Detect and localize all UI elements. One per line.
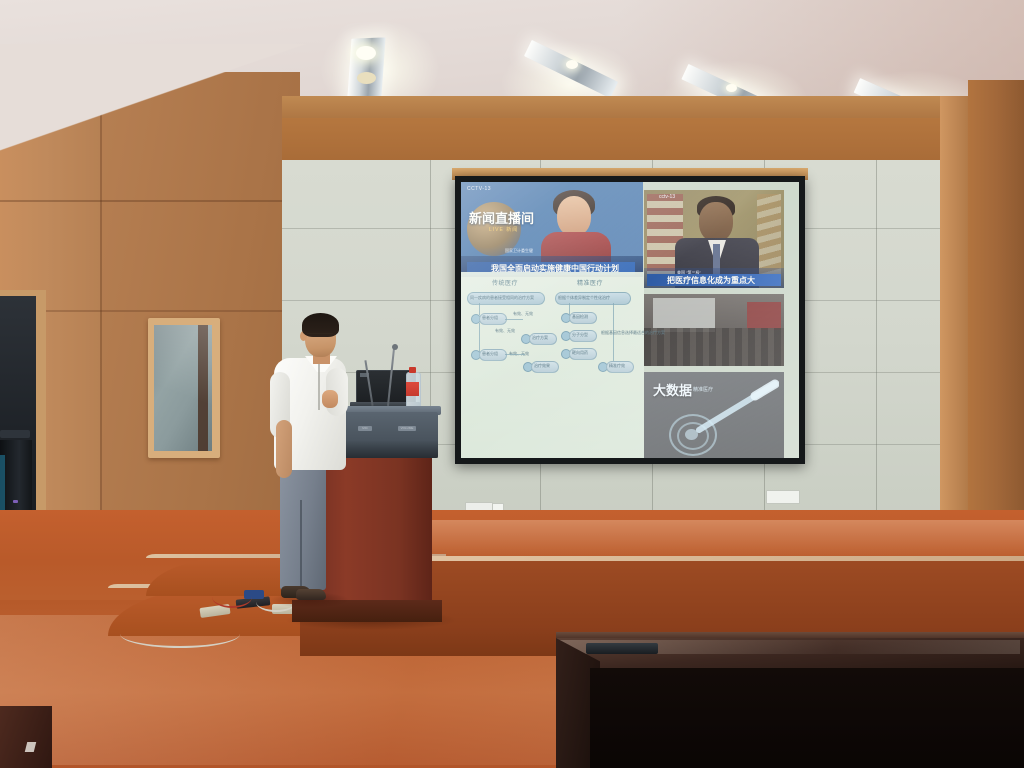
diagram-connector <box>505 354 525 355</box>
news-channel-logo: CCTV-13 <box>467 186 491 192</box>
cable-red <box>212 586 252 608</box>
conference-banner <box>747 302 781 330</box>
bigdata-title: 大数据 <box>653 380 692 399</box>
clip-ticker-text: 把医疗信息化成为重点大 <box>667 275 755 286</box>
presenter-hand-right <box>322 390 338 408</box>
diagram-connector <box>479 303 480 315</box>
desk-microphone-unit[interactable] <box>586 643 658 654</box>
diagram-left-top-node-label: 同一疾病的患者接受相同的治疗方案 <box>470 296 534 300</box>
news-anchor-head <box>557 196 591 236</box>
presenter-trousers <box>280 462 326 590</box>
ceiling-light-3-lamp <box>726 84 737 92</box>
conference-projector-screen <box>653 298 715 332</box>
back-wall-upper-wood-band <box>282 118 970 160</box>
wall-outlet-right[interactable] <box>766 490 800 504</box>
ceiling-light-2-lamp <box>566 60 578 69</box>
diagram-right-heading: 精准医疗 <box>577 278 603 287</box>
ceiling-light-1-lamp <box>356 46 376 60</box>
diagram-connector <box>479 323 480 353</box>
diagram-left-heading: 传统医疗 <box>492 278 518 287</box>
news-program-title: 新闻直播间 <box>469 208 534 227</box>
diagram-left-node-2-label: 治疗方案 <box>532 336 548 340</box>
bigdata-subtitle: 精准医疗 <box>693 386 713 393</box>
presenter-glasses-icon <box>307 333 333 339</box>
presenter-leg-seam <box>300 500 302 592</box>
chair-corner[interactable] <box>0 706 52 768</box>
projection-screen[interactable]: CCTV-13 新闻直播间 LIVE 新闻 国家卫计委生健 我国全面启动实施健康… <box>461 182 799 458</box>
wall-window-reflection <box>154 325 212 451</box>
diagram-left-node-4-label: 治疗效果 <box>534 364 550 368</box>
diagram-right-top-node-label: 根据个体差异制定个性化治疗 <box>558 296 610 300</box>
diagram-right-node-2-label: 分子分型 <box>572 333 588 337</box>
ceiling-light-1-lamp2 <box>357 72 376 84</box>
diagram-right-node-3-label: 靶向用药 <box>572 351 588 355</box>
lectern-control-center[interactable]: MIC <box>358 426 372 431</box>
av-rack-top <box>0 430 30 438</box>
slide-news-broadcast: CCTV-13 新闻直播间 LIVE 新闻 国家卫计委生健 我国全面启动实施健康… <box>461 182 643 277</box>
presenter-shirt-placket <box>318 364 320 410</box>
diagram-connector <box>505 319 523 320</box>
diagram-right-node-1-label: 基因检测 <box>572 315 588 319</box>
diagram-left-node-1-label: 患者分组 <box>482 316 498 320</box>
diagram-right-side-note: 根据基因信息选择最适合的治疗方案 <box>601 330 629 335</box>
news-live-label: LIVE 新闻 <box>489 226 518 233</box>
cable-floor <box>120 620 240 648</box>
av-rack-led <box>13 500 18 503</box>
lecture-hall-scene: CCTV-13 新闻直播间 LIVE 新闻 国家卫计委生健 我国全面启动实施健康… <box>0 0 1024 768</box>
diagram-left-edge-2: 有效、无效 <box>495 329 515 333</box>
panel-seam <box>876 160 877 510</box>
microphone-capsule <box>392 344 398 350</box>
wood-wall-right <box>968 80 1024 550</box>
lectern-control-right[interactable]: VOLUME <box>398 426 416 431</box>
foreground-table-underside <box>590 668 1024 768</box>
presenter-shoe-right <box>296 589 326 600</box>
ceiling-wall-bevel <box>0 44 330 159</box>
conference-crowd <box>644 328 784 366</box>
diagram-left-edge-1: 有效、无效 <box>513 312 533 316</box>
diagram-left-node-3-label: 患者分组 <box>482 352 498 356</box>
presenter-forearm-left <box>276 420 292 478</box>
news-strap-top: 国家卫计委生健 <box>505 248 533 254</box>
clip-person-head <box>699 202 733 242</box>
water-bottle-label <box>406 382 419 396</box>
wall-seam <box>0 200 300 202</box>
water-bottle-cap <box>409 367 416 373</box>
diagram-right-node-4-label: 精准疗效 <box>609 364 625 368</box>
clip-channel-logo: cctv-13 <box>659 194 675 200</box>
